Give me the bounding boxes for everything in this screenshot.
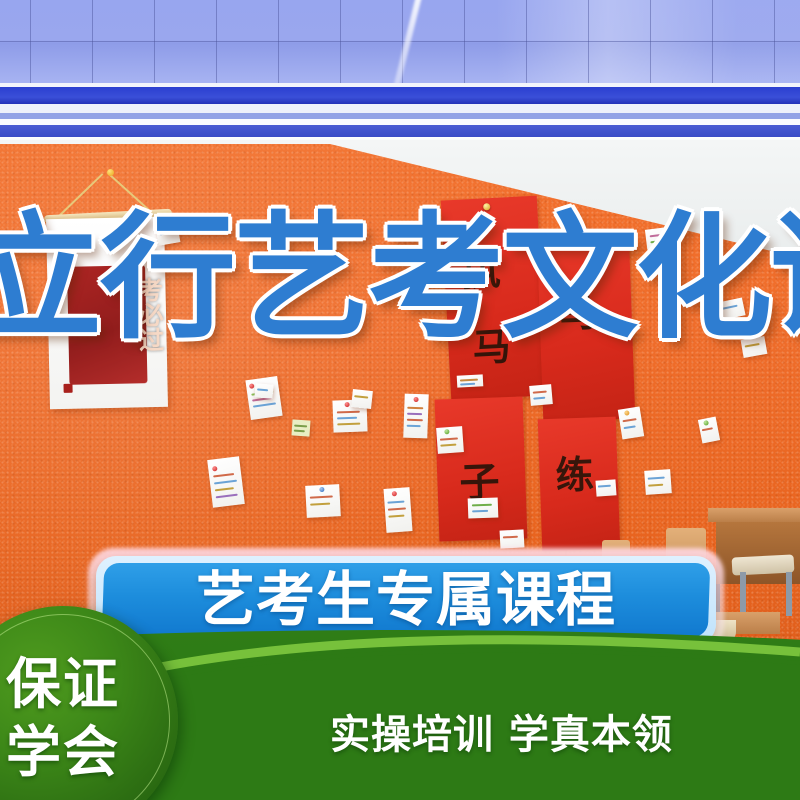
desk-surface	[708, 508, 800, 522]
pushpin-icon	[107, 169, 114, 176]
badge-label: 保证 学会	[0, 650, 178, 786]
chair-leg	[740, 572, 746, 616]
pinned-note	[468, 497, 499, 518]
pinned-note	[403, 394, 429, 439]
pinned-note	[383, 487, 412, 533]
banner-inner: 艺考生专属课程	[102, 563, 711, 637]
ceiling-window-grid	[0, 0, 800, 83]
pinned-note	[207, 456, 245, 508]
page-title: 立行艺考文化课	[0, 204, 800, 354]
badge-line-2: 学会	[0, 718, 178, 786]
wall-stripe-blue	[0, 125, 800, 137]
pinned-note	[254, 383, 273, 399]
pinned-note	[291, 419, 310, 436]
pinned-note	[529, 384, 553, 406]
poster-root: 执 马 马 子 练 考必过	[0, 0, 800, 800]
wall-stripe-blue	[0, 87, 800, 104]
pinned-note	[644, 469, 672, 495]
chair-leg	[786, 572, 792, 616]
red-calligraphy-paper: 子	[435, 397, 528, 542]
pinned-note	[618, 406, 644, 439]
wall-stripe	[0, 104, 800, 113]
pinned-note	[351, 389, 373, 409]
pinned-note	[500, 529, 525, 548]
pinned-note	[457, 374, 484, 387]
pinned-note	[436, 426, 464, 454]
pinned-note	[595, 479, 616, 496]
badge-line-1: 保证	[0, 650, 178, 718]
scroll-seal-stamp	[63, 384, 72, 393]
pinned-note	[305, 484, 341, 518]
blue-banner-label: 艺考生专属课程	[196, 569, 616, 631]
